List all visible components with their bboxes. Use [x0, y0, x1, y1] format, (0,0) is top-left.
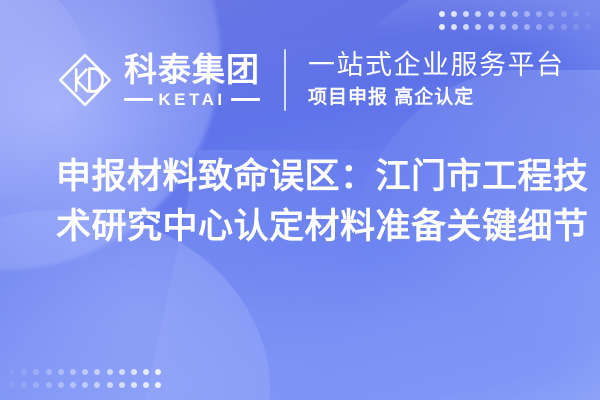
dot	[58, 369, 64, 375]
dot	[585, 11, 591, 17]
dot	[33, 369, 39, 375]
wordmark-dash-left	[124, 98, 153, 101]
dot	[475, 24, 481, 30]
dot	[9, 369, 15, 375]
dot	[119, 382, 125, 388]
dot	[500, 24, 506, 30]
dot	[500, 11, 506, 17]
brand-wordmark: 科泰集团 KETAI	[124, 53, 260, 108]
dot	[585, 24, 591, 30]
banner-header: 科泰集团 KETAI 一站式企业服务平台 项目申报 高企认定	[0, 44, 600, 116]
dot	[439, 11, 445, 17]
dot	[475, 11, 481, 17]
dot-grid-bottom-left	[9, 369, 161, 388]
dot	[58, 382, 64, 388]
dot	[524, 24, 530, 30]
dot	[143, 369, 149, 375]
dot	[21, 369, 27, 375]
dot	[33, 382, 39, 388]
page-title-line-1: 申报材料致命误区：江门市工程技	[56, 152, 572, 202]
dot	[451, 24, 457, 30]
dot	[107, 369, 113, 375]
dot	[488, 11, 494, 17]
dot	[46, 382, 52, 388]
dot	[94, 382, 100, 388]
header-divider	[284, 49, 286, 111]
brand-name-en-row: KETAI	[124, 91, 260, 108]
dot	[463, 24, 469, 30]
dot	[536, 24, 542, 30]
tagline-group: 一站式企业服务平台 项目申报 高企认定	[308, 50, 565, 109]
wordmark-dash-right	[231, 98, 260, 101]
dot	[512, 11, 518, 17]
dot	[524, 11, 530, 17]
page-title-line-2: 术研究中心认定材料准备关键细节	[56, 202, 572, 252]
dot	[561, 24, 567, 30]
dot	[548, 11, 554, 17]
dot	[536, 11, 542, 17]
dot-row	[9, 382, 161, 388]
dot	[94, 369, 100, 375]
dot	[107, 382, 113, 388]
page-title: 申报材料致命误区：江门市工程技 术研究中心认定材料准备关键细节	[56, 152, 572, 251]
dot	[131, 369, 137, 375]
tagline-main: 一站式企业服务平台	[308, 50, 565, 80]
dot	[548, 24, 554, 30]
brand-name-cn: 科泰集团	[124, 53, 260, 86]
dot	[131, 382, 137, 388]
dot-row	[439, 11, 591, 17]
promo-banner: 科泰集团 KETAI 一站式企业服务平台 项目申报 高企认定 申报材料致命误区：…	[0, 0, 600, 400]
dot	[46, 369, 52, 375]
dot	[439, 24, 445, 30]
dot-row	[439, 24, 591, 30]
dot	[9, 382, 15, 388]
dot	[561, 11, 567, 17]
dot	[82, 382, 88, 388]
dot	[70, 382, 76, 388]
dot	[512, 24, 518, 30]
dot	[82, 369, 88, 375]
dot	[573, 24, 579, 30]
dot	[155, 369, 161, 375]
dot	[451, 11, 457, 17]
brand-name-en: KETAI	[158, 91, 225, 108]
dot	[21, 382, 27, 388]
dot-row	[9, 369, 161, 375]
dot	[488, 24, 494, 30]
dot	[573, 11, 579, 17]
dot-grid-top-right	[439, 11, 591, 30]
dot	[119, 369, 125, 375]
ketai-diamond-monogram-icon	[56, 51, 114, 109]
dot	[155, 382, 161, 388]
dot	[70, 369, 76, 375]
brand-lockup: 科泰集团 KETAI	[56, 51, 260, 109]
dot	[463, 11, 469, 17]
tagline-sub: 项目申报 高企认定	[308, 87, 565, 110]
dot	[143, 382, 149, 388]
